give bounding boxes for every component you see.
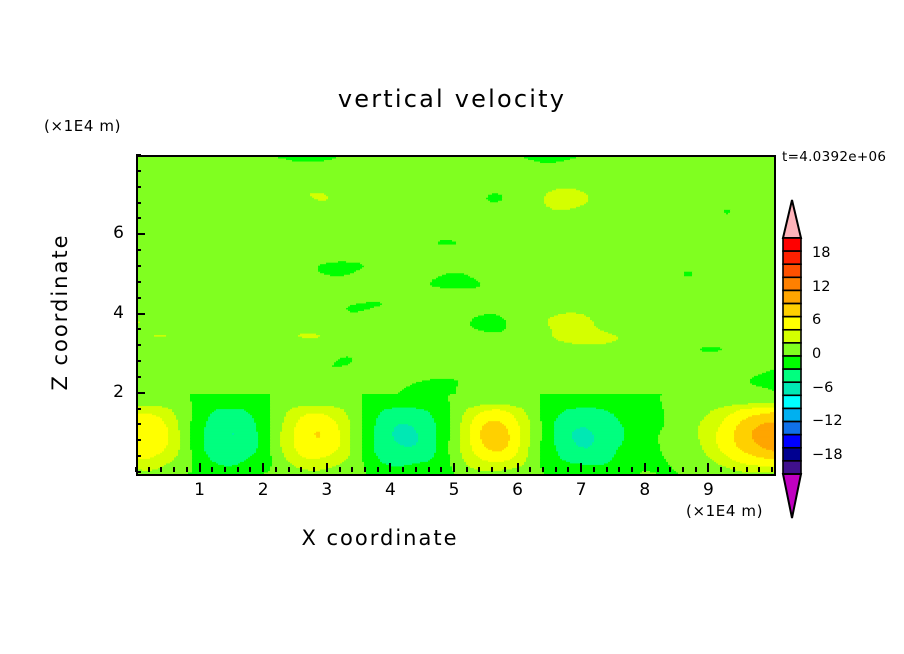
x-tick-label: 2	[243, 480, 283, 500]
contour-plot-area	[136, 155, 776, 476]
contour-field	[138, 157, 774, 474]
colorbar-tick-label: 12	[812, 279, 830, 295]
time-annotation: t=4.0392e+06	[782, 149, 886, 165]
x-tick-label: 6	[498, 480, 538, 500]
y-tick-label: 4	[84, 303, 124, 323]
colorbar-tick-label: −6	[812, 380, 833, 396]
colorbar-tick-label: 18	[812, 245, 830, 261]
colorbar-tick-label: 6	[812, 312, 821, 328]
x-tick-label: 8	[625, 480, 665, 500]
x-axis-unit-label: (×1E4 m)	[686, 502, 763, 520]
x-tick-label: 4	[370, 480, 410, 500]
page-title: vertical velocity	[0, 85, 904, 113]
x-tick-label: 1	[180, 480, 220, 500]
y-tick-label: 2	[84, 382, 124, 402]
x-tick-label: 5	[434, 480, 474, 500]
x-tick-label: 7	[561, 480, 601, 500]
colorbar-tick-label: −18	[812, 447, 843, 463]
x-axis-title: X coordinate	[0, 526, 760, 550]
y-axis-unit-label: (×1E4 m)	[44, 117, 121, 135]
colorbar-tick-label: 0	[812, 346, 821, 362]
colorbar-tick-label: −12	[812, 413, 843, 429]
x-tick-label: 3	[307, 480, 347, 500]
colorbar-swatches	[778, 196, 808, 526]
colorbar: 181260−6−12−18	[778, 196, 904, 526]
x-tick-label: 9	[688, 480, 728, 500]
y-axis-title: Z coordinate	[48, 212, 72, 412]
y-tick-label: 6	[84, 223, 124, 243]
